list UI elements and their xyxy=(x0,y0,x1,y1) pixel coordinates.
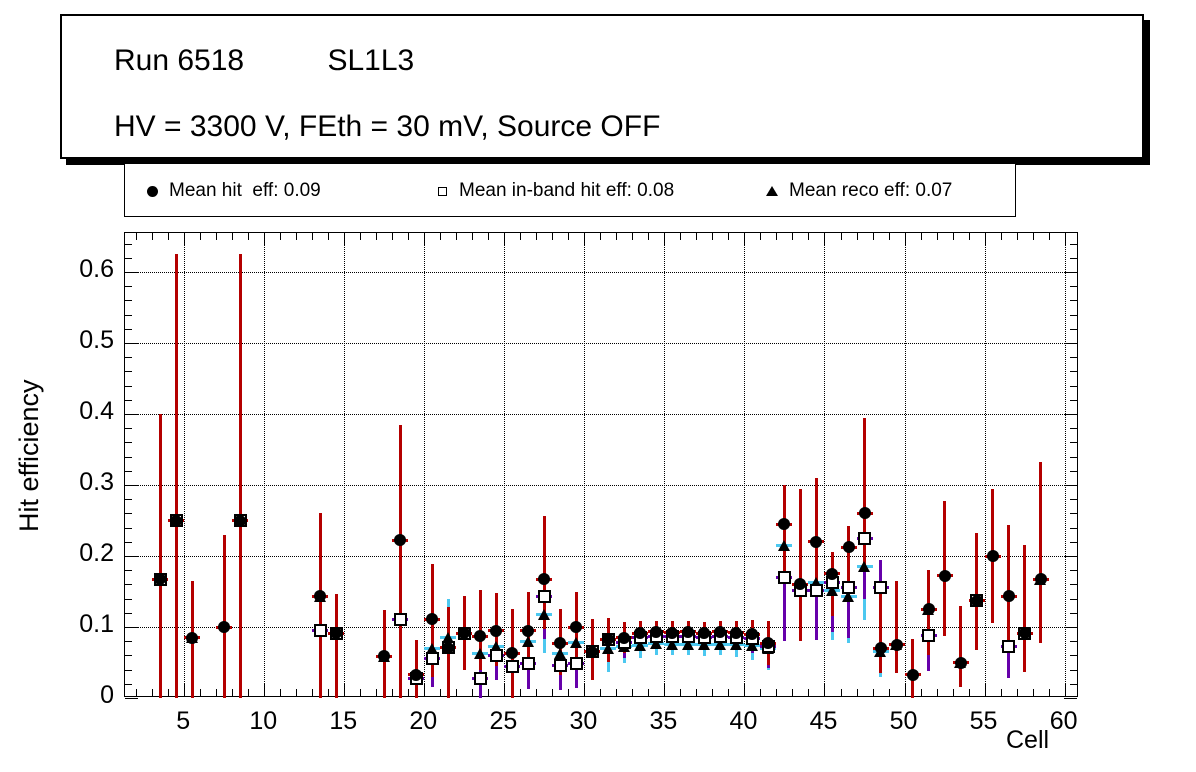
data-point-triangle xyxy=(570,637,582,648)
error-bar-vertical xyxy=(799,489,802,642)
x-tick-label: 30 xyxy=(553,707,613,736)
x-tick-minor xyxy=(1001,689,1002,696)
data-point-circle xyxy=(923,603,935,615)
x-tick-major xyxy=(344,683,345,696)
data-point-open-square xyxy=(554,659,567,672)
x-tick-major xyxy=(184,233,185,246)
y-tick-major xyxy=(125,272,138,273)
circle-icon xyxy=(135,164,169,218)
x-tick-minor xyxy=(1033,689,1034,696)
x-tick-minor xyxy=(857,689,858,696)
data-point-open-square xyxy=(570,657,583,670)
y-tick-minor xyxy=(125,258,132,259)
x-tick-major xyxy=(504,683,505,696)
y-tick-minor xyxy=(1070,670,1077,671)
x-tick-minor xyxy=(168,689,169,696)
x-tick-minor xyxy=(857,233,858,240)
y-tick-label: 0.2 xyxy=(48,539,114,568)
data-point-triangle xyxy=(858,561,870,572)
x-tick-minor xyxy=(921,233,922,240)
gridline-horizontal xyxy=(125,627,1077,628)
gridline-vertical xyxy=(504,233,505,696)
y-tick-minor xyxy=(1070,258,1077,259)
y-tick-minor xyxy=(125,528,132,529)
gridline-vertical xyxy=(664,233,665,696)
x-tick-minor xyxy=(488,689,489,696)
x-tick-minor xyxy=(680,233,681,240)
y-tick-minor xyxy=(125,442,132,443)
x-tick-label: 40 xyxy=(713,707,773,736)
x-tick-minor xyxy=(360,233,361,240)
x-tick-minor xyxy=(953,689,954,696)
x-tick-minor xyxy=(1049,233,1050,240)
data-point-circle xyxy=(907,669,919,681)
x-tick-minor xyxy=(776,689,777,696)
data-point-circle xyxy=(1035,573,1047,585)
gridline-horizontal xyxy=(125,556,1077,557)
y-tick-minor xyxy=(125,471,132,472)
data-point-open-square xyxy=(426,652,439,665)
y-tick-major xyxy=(125,698,138,699)
x-tick-major xyxy=(424,233,425,246)
y-tick-minor xyxy=(1070,300,1077,301)
data-point-circle xyxy=(939,570,951,582)
data-point-triangle xyxy=(474,648,486,659)
x-tick-minor xyxy=(472,233,473,240)
title-run-line: Run 6518 SL1L3 xyxy=(114,44,414,78)
error-bar-vertical xyxy=(783,485,786,577)
legend-entry-2: Mean reco eff: 0.07 xyxy=(755,164,952,218)
y-tick-major xyxy=(125,556,138,557)
y-tick-minor xyxy=(125,684,132,685)
x-tick-minor xyxy=(808,233,809,240)
x-tick-minor xyxy=(873,689,874,696)
data-point-circle xyxy=(618,632,630,644)
x-tick-label: 15 xyxy=(313,707,373,736)
gridline-vertical xyxy=(184,233,185,696)
data-point-open-square xyxy=(778,571,791,584)
legend-entry-0: Mean hit eff: 0.09 xyxy=(135,164,321,218)
y-tick-minor xyxy=(125,300,132,301)
y-tick-minor xyxy=(125,499,132,500)
gridline-vertical xyxy=(905,233,906,696)
data-point-open-square xyxy=(314,624,327,637)
data-point-open-square xyxy=(858,532,871,545)
x-tick-minor xyxy=(376,233,377,240)
x-tick-major xyxy=(985,683,986,696)
x-tick-minor xyxy=(760,233,761,240)
y-tick-minor xyxy=(125,655,132,656)
y-tick-minor xyxy=(1070,357,1077,358)
y-tick-major xyxy=(1064,414,1077,415)
y-tick-minor xyxy=(125,599,132,600)
y-tick-label: 0.4 xyxy=(48,397,114,426)
data-point-circle xyxy=(506,647,518,659)
x-tick-minor xyxy=(328,233,329,240)
y-tick-minor xyxy=(125,542,132,543)
y-tick-minor xyxy=(1070,428,1077,429)
x-tick-major xyxy=(744,683,745,696)
x-tick-major xyxy=(664,233,665,246)
error-bar-vertical xyxy=(1007,525,1010,649)
x-tick-minor xyxy=(552,689,553,696)
triangle-icon-glyph xyxy=(766,186,778,196)
x-tick-minor xyxy=(889,233,890,240)
x-tick-minor xyxy=(568,689,569,696)
error-bar-vertical xyxy=(159,414,162,698)
x-tick-minor xyxy=(152,689,153,696)
y-tick-minor xyxy=(1070,244,1077,245)
y-tick-minor xyxy=(125,570,132,571)
gridline-vertical xyxy=(424,233,425,696)
data-point-circle xyxy=(570,621,582,633)
y-tick-minor xyxy=(1070,528,1077,529)
y-tick-minor xyxy=(125,584,132,585)
y-tick-major xyxy=(1064,627,1077,628)
gridline-horizontal xyxy=(125,272,1077,273)
y-tick-minor xyxy=(1070,400,1077,401)
data-point-circle xyxy=(234,515,246,527)
data-point-open-square xyxy=(874,581,887,594)
data-point-open-square xyxy=(810,584,823,597)
error-bar-vertical xyxy=(815,478,818,592)
y-tick-major xyxy=(1064,343,1077,344)
x-tick-major xyxy=(264,233,265,246)
gridline-vertical xyxy=(985,233,986,696)
x-tick-minor xyxy=(568,233,569,240)
x-tick-minor xyxy=(696,689,697,696)
data-point-circle xyxy=(442,642,454,654)
data-point-open-square xyxy=(842,581,855,594)
x-tick-major xyxy=(985,233,986,246)
x-tick-label: 60 xyxy=(1034,707,1094,736)
x-tick-minor xyxy=(296,233,297,240)
data-point-circle xyxy=(522,625,534,637)
x-tick-minor xyxy=(456,233,457,240)
x-tick-minor xyxy=(520,233,521,240)
x-tick-minor xyxy=(328,689,329,696)
x-tick-minor xyxy=(472,689,473,696)
x-tick-minor xyxy=(200,233,201,240)
x-tick-major xyxy=(584,683,585,696)
x-tick-label: 45 xyxy=(793,707,853,736)
x-tick-minor xyxy=(536,233,537,240)
error-bar-vertical xyxy=(975,533,978,650)
x-tick-minor xyxy=(408,689,409,696)
data-point-circle xyxy=(843,541,855,553)
y-tick-major xyxy=(1064,698,1077,699)
plot-frame xyxy=(124,232,1078,697)
x-tick-minor xyxy=(632,233,633,240)
x-tick-major xyxy=(504,233,505,246)
x-tick-major xyxy=(424,683,425,696)
y-tick-minor xyxy=(1070,570,1077,571)
data-point-circle xyxy=(971,595,983,607)
data-point-circle xyxy=(538,573,550,585)
y-tick-major xyxy=(125,485,138,486)
data-point-circle xyxy=(859,507,871,519)
x-tick-major xyxy=(744,233,745,246)
data-point-circle xyxy=(955,657,967,669)
y-tick-minor xyxy=(125,513,132,514)
x-tick-minor xyxy=(360,689,361,696)
x-tick-minor xyxy=(728,689,729,696)
x-tick-minor xyxy=(1001,233,1002,240)
error-bar-vertical xyxy=(943,501,946,636)
x-tick-minor xyxy=(232,689,233,696)
x-tick-minor xyxy=(440,233,441,240)
x-tick-minor xyxy=(889,689,890,696)
x-tick-minor xyxy=(969,689,970,696)
x-tick-minor xyxy=(248,233,249,240)
y-tick-minor xyxy=(125,329,132,330)
y-tick-minor xyxy=(1070,315,1077,316)
y-tick-label: 0.6 xyxy=(48,255,114,284)
error-bar-vertical xyxy=(879,588,882,673)
y-tick-major xyxy=(1064,556,1077,557)
x-tick-minor xyxy=(600,233,601,240)
x-tick-minor xyxy=(648,233,649,240)
x-tick-minor xyxy=(712,233,713,240)
x-tick-minor xyxy=(792,233,793,240)
x-tick-minor xyxy=(1033,233,1034,240)
x-tick-minor xyxy=(808,689,809,696)
y-tick-minor xyxy=(1070,499,1077,500)
data-point-open-square xyxy=(394,613,407,626)
x-tick-minor xyxy=(937,233,938,240)
error-bar-vertical xyxy=(335,594,338,698)
data-point-circle xyxy=(891,639,903,651)
y-tick-minor xyxy=(125,400,132,401)
x-tick-minor xyxy=(616,233,617,240)
x-tick-major xyxy=(905,233,906,246)
data-point-open-square xyxy=(522,657,535,670)
y-tick-minor xyxy=(1070,386,1077,387)
x-tick-minor xyxy=(728,233,729,240)
x-tick-minor xyxy=(248,689,249,696)
x-tick-minor xyxy=(296,689,297,696)
x-tick-label: 20 xyxy=(393,707,453,736)
gridline-vertical xyxy=(1065,233,1066,696)
data-point-open-square xyxy=(474,672,487,685)
gridline-horizontal xyxy=(125,485,1077,486)
error-bar-vertical xyxy=(399,425,402,698)
y-tick-minor xyxy=(1070,584,1077,585)
x-tick-major xyxy=(1065,233,1066,246)
gridline-vertical xyxy=(264,233,265,696)
x-tick-label: 25 xyxy=(473,707,533,736)
x-tick-major xyxy=(344,233,345,246)
x-tick-major xyxy=(1065,683,1066,696)
y-tick-minor xyxy=(1070,471,1077,472)
y-tick-minor xyxy=(125,641,132,642)
error-bar-vertical xyxy=(223,535,226,698)
x-tick-major xyxy=(584,233,585,246)
x-tick-minor xyxy=(1017,233,1018,240)
x-tick-minor xyxy=(168,233,169,240)
x-tick-minor xyxy=(136,233,137,240)
data-point-circle xyxy=(490,625,502,637)
x-tick-minor xyxy=(953,233,954,240)
x-tick-minor xyxy=(680,689,681,696)
x-tick-minor xyxy=(488,233,489,240)
data-point-circle xyxy=(1019,627,1031,639)
y-tick-minor xyxy=(1070,329,1077,330)
data-point-open-square xyxy=(1002,640,1015,653)
y-tick-minor xyxy=(1070,641,1077,642)
y-tick-minor xyxy=(125,457,132,458)
legend-label: Mean hit eff: 0.09 xyxy=(169,180,321,202)
y-tick-minor xyxy=(125,386,132,387)
y-tick-major xyxy=(1064,485,1077,486)
x-tick-minor xyxy=(712,689,713,696)
triangle-icon xyxy=(755,164,789,218)
error-bar-vertical xyxy=(1039,462,1042,643)
x-tick-minor xyxy=(216,233,217,240)
open-square-icon-glyph xyxy=(438,187,447,196)
x-tick-minor xyxy=(392,233,393,240)
x-tick-minor xyxy=(408,233,409,240)
x-tick-label: 50 xyxy=(874,707,934,736)
data-point-triangle xyxy=(522,636,534,647)
error-bar-vertical xyxy=(1023,545,1026,673)
x-tick-minor xyxy=(232,233,233,240)
data-point-circle xyxy=(875,642,887,654)
x-tick-minor xyxy=(600,689,601,696)
y-tick-minor xyxy=(125,613,132,614)
gridline-horizontal xyxy=(125,414,1077,415)
data-point-circle xyxy=(987,550,999,562)
y-tick-minor xyxy=(1070,371,1077,372)
y-tick-minor xyxy=(1070,684,1077,685)
x-tick-label: 55 xyxy=(954,707,1014,736)
data-point-triangle xyxy=(778,540,790,551)
y-tick-major xyxy=(125,627,138,628)
data-point-circle xyxy=(810,536,822,548)
x-tick-minor xyxy=(312,689,313,696)
x-tick-minor xyxy=(921,689,922,696)
error-bar-vertical xyxy=(959,606,962,688)
x-tick-minor xyxy=(760,689,761,696)
y-tick-minor xyxy=(125,371,132,372)
y-tick-minor xyxy=(125,428,132,429)
y-tick-minor xyxy=(1070,457,1077,458)
data-point-circle xyxy=(1003,590,1015,602)
y-tick-minor xyxy=(1070,513,1077,514)
x-tick-minor xyxy=(1017,689,1018,696)
x-tick-minor xyxy=(552,233,553,240)
error-bar-vertical xyxy=(863,418,866,571)
x-tick-minor xyxy=(841,233,842,240)
y-tick-minor xyxy=(125,670,132,671)
x-tick-major xyxy=(824,233,825,246)
data-point-circle xyxy=(474,630,486,642)
x-tick-minor xyxy=(841,689,842,696)
x-tick-minor xyxy=(216,689,217,696)
x-tick-minor xyxy=(136,689,137,696)
data-point-open-square xyxy=(922,629,935,642)
gridline-vertical xyxy=(744,233,745,696)
x-tick-minor xyxy=(440,689,441,696)
x-tick-minor xyxy=(776,233,777,240)
y-tick-minor xyxy=(1070,599,1077,600)
data-point-circle xyxy=(410,669,422,681)
x-tick-minor xyxy=(969,233,970,240)
y-tick-minor xyxy=(1070,286,1077,287)
data-point-open-square xyxy=(538,590,551,603)
x-tick-minor xyxy=(648,689,649,696)
y-tick-label: 0 xyxy=(48,681,114,710)
y-tick-minor xyxy=(1070,542,1077,543)
x-tick-minor xyxy=(520,689,521,696)
data-point-triangle xyxy=(538,609,550,620)
error-bar-vertical xyxy=(895,581,898,673)
title-box: Run 6518 SL1L3 HV = 3300 V, FEth = 30 mV… xyxy=(60,14,1144,159)
legend-label: Mean reco eff: 0.07 xyxy=(789,180,952,202)
x-tick-minor xyxy=(937,689,938,696)
x-tick-minor xyxy=(792,689,793,696)
x-tick-minor xyxy=(1049,689,1050,696)
data-point-circle xyxy=(426,613,438,625)
x-tick-major xyxy=(264,683,265,696)
x-tick-minor xyxy=(280,689,281,696)
y-tick-major xyxy=(125,414,138,415)
y-tick-label: 0.1 xyxy=(48,610,114,639)
x-tick-minor xyxy=(392,689,393,696)
x-tick-label: 10 xyxy=(233,707,293,736)
x-tick-minor xyxy=(536,689,537,696)
y-tick-minor xyxy=(1070,613,1077,614)
x-tick-minor xyxy=(200,689,201,696)
y-tick-minor xyxy=(125,315,132,316)
data-point-circle xyxy=(778,518,790,530)
x-tick-major xyxy=(664,683,665,696)
legend-box: Mean hit eff: 0.09Mean in-band hit eff: … xyxy=(124,163,1016,217)
x-tick-minor xyxy=(312,233,313,240)
y-tick-label: 0.5 xyxy=(48,326,114,355)
title-conditions-line: HV = 3300 V, FEth = 30 mV, Source OFF xyxy=(114,110,660,144)
gridline-vertical xyxy=(584,233,585,696)
data-point-circle xyxy=(394,534,406,546)
data-point-circle xyxy=(218,621,230,633)
y-tick-major xyxy=(1064,272,1077,273)
gridline-vertical xyxy=(824,233,825,696)
legend-label: Mean in-band hit eff: 0.08 xyxy=(459,180,674,202)
x-tick-minor xyxy=(632,689,633,696)
x-tick-minor xyxy=(873,233,874,240)
x-tick-label: 35 xyxy=(633,707,693,736)
plot-area xyxy=(125,233,1077,696)
y-tick-minor xyxy=(125,286,132,287)
x-tick-minor xyxy=(152,233,153,240)
y-tick-minor xyxy=(1070,442,1077,443)
error-bar-vertical xyxy=(239,254,242,698)
open-square-icon xyxy=(425,164,459,218)
gridline-vertical xyxy=(344,233,345,696)
x-tick-major xyxy=(824,683,825,696)
error-bar-vertical xyxy=(319,513,322,698)
x-tick-minor xyxy=(696,233,697,240)
legend-entry-1: Mean in-band hit eff: 0.08 xyxy=(425,164,674,218)
gridline-horizontal xyxy=(125,343,1077,344)
data-point-open-square xyxy=(506,660,519,673)
data-point-open-square xyxy=(490,649,503,662)
x-tick-major xyxy=(905,683,906,696)
y-tick-minor xyxy=(1070,655,1077,656)
data-point-circle xyxy=(170,515,182,527)
circle-icon-glyph xyxy=(147,186,158,197)
x-tick-minor xyxy=(456,689,457,696)
